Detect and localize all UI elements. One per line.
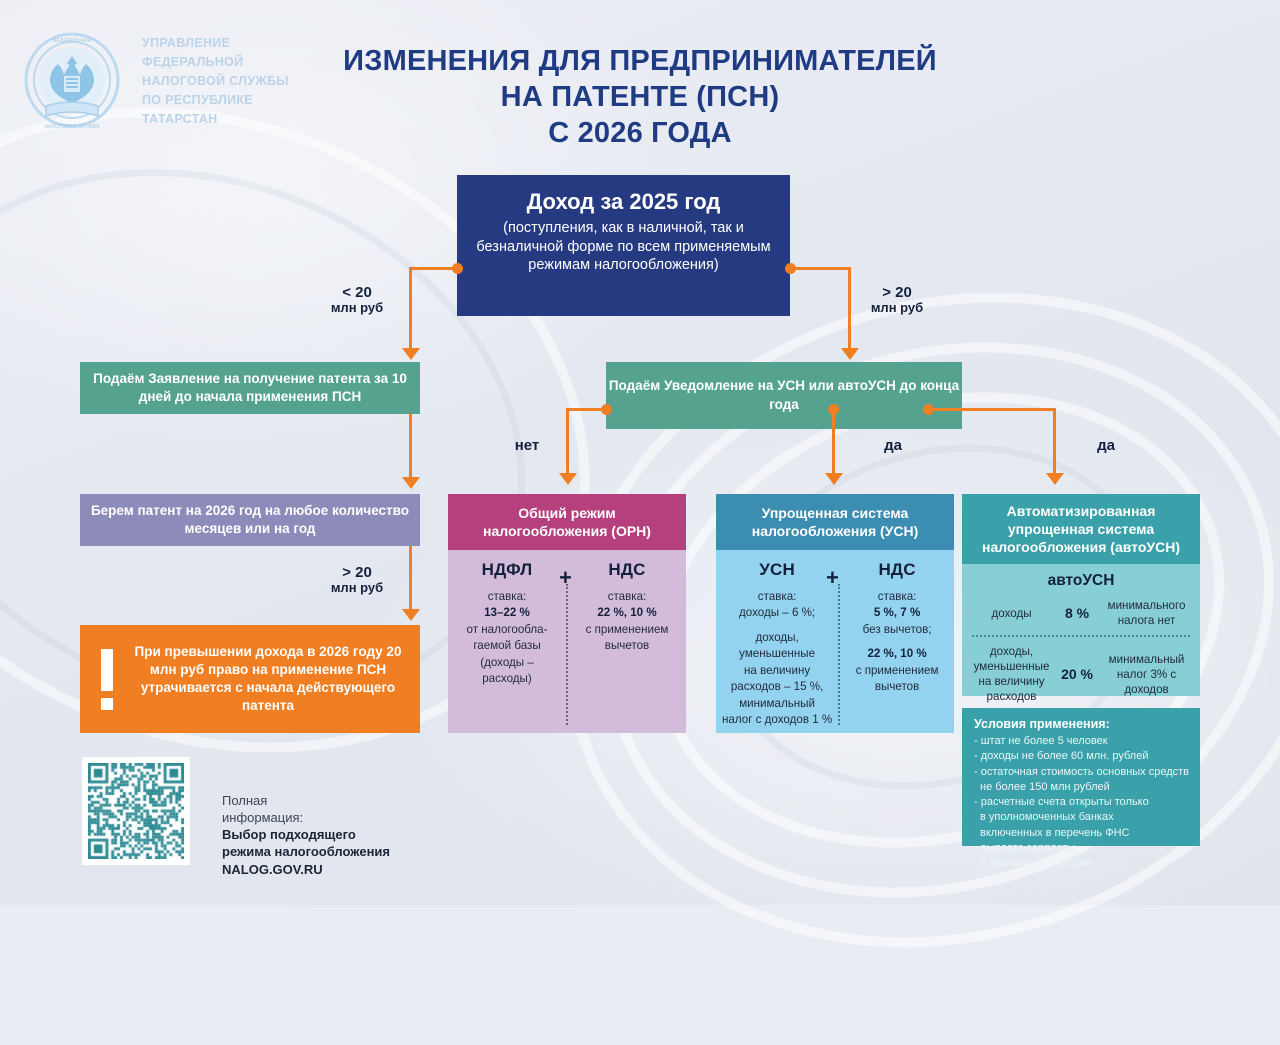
autousn-title: автоУСН — [970, 572, 1192, 590]
rate-line: без вычетов; — [856, 622, 939, 638]
rate-line: минимальный — [722, 696, 832, 712]
take-patent-node: Берем патент на 2026 год на любое количе… — [80, 494, 420, 546]
regime-body-autousn: автоУСН доходы 8 % минимального налога н… — [962, 564, 1200, 696]
rate-line: (доходы – — [467, 655, 548, 671]
connector-right-v — [848, 267, 851, 349]
list-item: - расчетные счета открыты только — [974, 795, 1190, 809]
rate-line: расходы) — [467, 671, 548, 687]
usn-left-pane: УСН ставка: доходы – 6 %; доходы, уменьш… — [716, 550, 838, 733]
branch-label-yes-auto: да — [1075, 437, 1137, 454]
regime-column-usn: Упрощенная система налогообложения (УСН)… — [716, 494, 954, 733]
connector-right-arrow — [841, 348, 859, 360]
branch-label-yes-usn: да — [862, 437, 924, 454]
branch-label-left-line2: млн руб — [315, 301, 399, 316]
branch-label-no: нет — [496, 437, 558, 454]
list-item: включенных в перечень ФНС — [974, 826, 1190, 840]
conditions-title: Условия применения: — [974, 717, 1190, 731]
connector-no-v — [566, 408, 569, 474]
orn-left-pane: НДФЛ ставка: 13–22 % от налогообла- гаем… — [448, 550, 566, 733]
rate-line: доходы – 6 %; — [722, 605, 832, 621]
usn-pillar-usn: УСН — [759, 560, 795, 580]
footer-line: режима налогообложения — [222, 843, 452, 860]
connector-yes-auto-arrow — [1046, 473, 1064, 485]
usn-pillar-nds: НДС — [878, 560, 915, 580]
regime-head-orn: Общий режим налогообложения (ОРН) — [448, 494, 686, 550]
connector-right-h — [790, 267, 850, 270]
orn-right-pane: НДС ставка: 22 %, 10 % с применением выч… — [568, 550, 686, 733]
rate-line: уменьшенные — [722, 646, 832, 662]
branch-label-patent-over: > 20 млн руб — [315, 564, 399, 596]
rate-line: 5 %, 7 % — [874, 606, 920, 619]
rate-line: расходов – 15 %, — [722, 679, 832, 695]
org-line: УПРАВЛЕНИЕ — [142, 34, 317, 53]
branch-label-right: > 20 млн руб — [855, 284, 939, 316]
branch-label-right-line2: млн руб — [855, 301, 939, 316]
autousn-base: доходы — [970, 606, 1053, 621]
connector-no-arrow — [559, 473, 577, 485]
orn-pillar-ndfl: НДФЛ — [482, 560, 533, 580]
connector-yes-usn-arrow — [825, 473, 843, 485]
rate-line: налог с доходов 1 % — [722, 712, 832, 728]
autousn-base: доходы, уменьшенные на величину расходов — [970, 644, 1053, 704]
conditions-list: - штат не более 5 человек - доходы не бо… — [974, 734, 1190, 871]
autousn-row: доходы, уменьшенные на величину расходов… — [970, 644, 1192, 704]
rate-line: ставка: — [722, 589, 832, 605]
connector-yes-auto-v — [1053, 408, 1056, 474]
connector-yes-usn-v — [832, 408, 835, 474]
connector-warn-arrow — [402, 609, 420, 621]
usn-right-pane: НДС ставка: 5 %, 7 % без вычетов; 22 %, … — [840, 550, 954, 733]
rate-line: с применением — [856, 663, 939, 679]
rate-line: от налогообла- — [467, 622, 548, 638]
list-item: - остаточная стоимость основных средств — [974, 765, 1190, 779]
income-node: Доход за 2025 год (поступления, как в на… — [457, 175, 790, 316]
usn-nds-rates: ставка: 5 %, 7 % без вычетов; 22 %, 10 %… — [856, 589, 939, 696]
footer-line: Полная — [222, 792, 452, 809]
usn-plus-sign: + — [826, 565, 839, 591]
orn-ndfl-rates: ставка: 13–22 % от налогообла- гаемой ба… — [467, 589, 548, 688]
title-line: С 2026 ГОДА — [300, 116, 980, 152]
footer-line: Выбор подходящего — [222, 826, 452, 843]
branch-label-patent-over-line2: млн руб — [315, 581, 399, 596]
svg-text:ФЕДЕРАЛЬНАЯ: ФЕДЕРАЛЬНАЯ — [53, 38, 92, 44]
footer-line: информация: — [222, 809, 452, 826]
rate-line: 22 %, 10 % — [867, 647, 926, 660]
agency-logo: ФЕДЕРАЛЬНАЯ НАЛОГОВАЯ СЛУЖБА УПРАВЛЕНИЕ … — [20, 26, 310, 142]
income-subtitle: (поступления, как в наличной, так и безн… — [457, 219, 790, 275]
title-line: НА ПАТЕНТЕ (ПСН) — [300, 80, 980, 116]
orn-nds-rates: ставка: 22 %, 10 % с применением вычетов — [586, 589, 669, 655]
apply-usn-node: Подаём Уведомление на УСН или автоУСН до… — [606, 362, 962, 429]
agency-name: УПРАВЛЕНИЕ ФЕДЕРАЛЬНОЙ НАЛОГОВОЙ СЛУЖБЫ … — [142, 34, 317, 129]
autousn-note: минимальный налог 3% с доходов — [1101, 652, 1192, 697]
rate-line: с применением — [586, 622, 669, 638]
connector-yes-auto-h — [928, 408, 1056, 411]
take-patent-text: Берем патент на 2026 год на любое количе… — [80, 502, 420, 538]
exclamation-mark-icon — [80, 649, 134, 710]
income-title: Доход за 2025 год — [457, 189, 790, 215]
apply-patent-node: Подаём Заявление на получение патента за… — [80, 362, 420, 414]
list-item: в безналичной форме — [974, 856, 1190, 870]
rate-line: вычетов — [856, 679, 939, 695]
list-item: не более 150 млн рублей — [974, 780, 1190, 794]
svg-text:НАЛОГОВАЯ СЛУЖБА: НАЛОГОВАЯ СЛУЖБА — [44, 124, 100, 130]
regime-head-autousn: Автоматизированная упрощенная система на… — [962, 494, 1200, 564]
rate-line: гаемой базы — [467, 638, 548, 654]
footer-info: Полная информация: Выбор подходящего реж… — [222, 792, 452, 878]
apply-patent-text: Подаём Заявление на получение патента за… — [80, 370, 420, 406]
org-line: ТАТАРСТАН — [142, 110, 317, 129]
regime-head-usn: Упрощенная система налогообложения (УСН) — [716, 494, 954, 550]
connector-left-h — [410, 267, 458, 270]
rate-line: ставка: — [586, 589, 669, 605]
list-item: в уполномоченных банках — [974, 810, 1190, 824]
warning-text: При превышении дохода в 2026 году 20 млн… — [134, 643, 420, 715]
branch-label-left: < 20 млн руб — [315, 284, 399, 316]
autousn-divider — [972, 635, 1190, 637]
regime-column-orn: Общий режим налогообложения (ОРН) НДФЛ с… — [448, 494, 686, 733]
warning-node: При превышении дохода в 2026 году 20 млн… — [80, 625, 420, 733]
page-title: ИЗМЕНЕНИЯ ДЛЯ ПРЕДПРИНИМАТЕЛЕЙ НА ПАТЕНТ… — [300, 44, 980, 152]
list-item: - доходы не более 60 млн. рублей — [974, 749, 1190, 763]
autousn-conditions-box: Условия применения: - штат не более 5 че… — [962, 708, 1200, 846]
connector-warn-v — [409, 546, 412, 610]
infographic-page: ФЕДЕРАЛЬНАЯ НАЛОГОВАЯ СЛУЖБА УПРАВЛЕНИЕ … — [0, 0, 1280, 905]
autousn-rate: 20 % — [1053, 666, 1101, 682]
list-item: - выплата зарплаты — [974, 841, 1190, 855]
branch-label-patent-over-line1: > 20 — [315, 564, 399, 581]
title-line: ИЗМЕНЕНИЯ ДЛЯ ПРЕДПРИНИМАТЕЛЕЙ — [300, 44, 980, 80]
orn-pillar-nds: НДС — [608, 560, 645, 580]
branch-label-right-line1: > 20 — [855, 284, 939, 301]
autousn-row: доходы 8 % минимального налога нет — [970, 598, 1192, 628]
rate-line: ставка: — [467, 589, 548, 605]
orn-plus-sign: + — [559, 565, 572, 591]
connector-patent-arrow — [402, 477, 420, 489]
rate-line: на величину — [722, 663, 832, 679]
connector-no-h — [567, 408, 609, 411]
rate-line: вычетов — [586, 638, 669, 654]
apply-usn-text: Подаём Уведомление на УСН или автоУСН до… — [606, 377, 962, 413]
autousn-rate: 8 % — [1053, 605, 1101, 621]
connector-patent-v — [409, 414, 412, 478]
rate-line: 13–22 % — [484, 606, 530, 619]
rate-line: 22 %, 10 % — [597, 606, 656, 619]
rate-line: доходы, — [722, 630, 832, 646]
fns-seal-icon: ФЕДЕРАЛЬНАЯ НАЛОГОВАЯ СЛУЖБА — [20, 30, 124, 134]
autousn-note: минимального налога нет — [1101, 598, 1192, 628]
list-item: - штат не более 5 человек — [974, 734, 1190, 748]
org-line: ФЕДЕРАЛЬНОЙ — [142, 53, 317, 72]
branch-label-left-line1: < 20 — [315, 284, 399, 301]
connector-left-v — [409, 267, 412, 349]
footer-line: NALOG.GOV.RU — [222, 861, 452, 878]
rate-line: ставка: — [856, 589, 939, 605]
org-line: НАЛОГОВОЙ СЛУЖБЫ — [142, 72, 317, 91]
qr-code[interactable] — [82, 757, 190, 865]
regime-column-autousn: Автоматизированная упрощенная система на… — [962, 494, 1200, 696]
usn-rates: ставка: доходы – 6 %; доходы, уменьшенны… — [722, 589, 832, 729]
org-line: ПО РЕСПУБЛИКЕ — [142, 91, 317, 110]
connector-left-arrow — [402, 348, 420, 360]
